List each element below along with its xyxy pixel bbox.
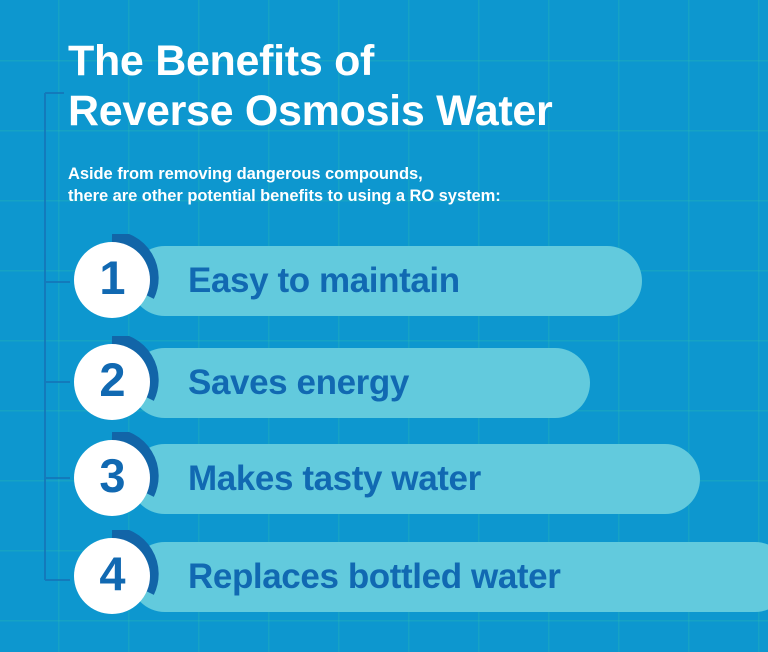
benefits-list: 1 Easy to maintain 2 Saves energy bbox=[0, 0, 768, 652]
benefit-number: 3 bbox=[70, 432, 154, 520]
list-item[interactable]: 3 Makes tasty water bbox=[70, 436, 481, 522]
benefit-label: Saves energy bbox=[188, 363, 409, 403]
benefit-number: 1 bbox=[70, 234, 154, 322]
benefit-label: Replaces bottled water bbox=[188, 557, 560, 597]
number-badge: 3 bbox=[70, 432, 162, 524]
list-item[interactable]: 1 Easy to maintain bbox=[70, 238, 460, 324]
benefit-label: Easy to maintain bbox=[188, 261, 460, 301]
number-badge: 4 bbox=[70, 530, 162, 622]
benefit-number: 4 bbox=[70, 530, 154, 618]
benefit-number: 2 bbox=[70, 336, 154, 424]
number-badge: 1 bbox=[70, 234, 162, 326]
benefit-label: Makes tasty water bbox=[188, 459, 481, 499]
number-badge: 2 bbox=[70, 336, 162, 428]
list-item[interactable]: 2 Saves energy bbox=[70, 340, 409, 426]
list-item[interactable]: 4 Replaces bottled water bbox=[70, 534, 560, 620]
infographic-canvas: The Benefits of Reverse Osmosis Water As… bbox=[0, 0, 768, 652]
